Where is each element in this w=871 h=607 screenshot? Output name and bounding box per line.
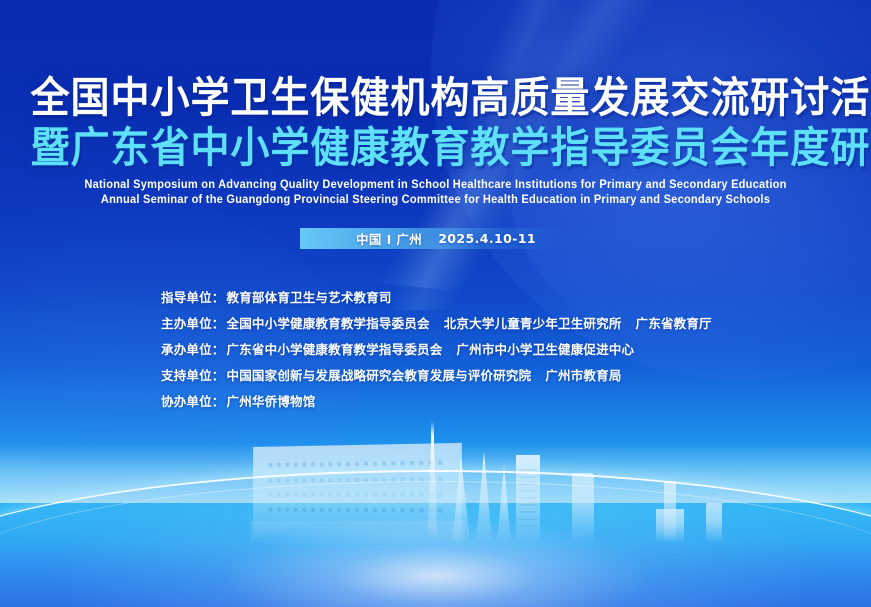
canton-tower-mast <box>431 421 434 443</box>
organization-name: 全国中小学健康教育教学指导委员会 <box>227 313 430 332</box>
school-building-base <box>250 521 465 543</box>
organization-name: 中国国家创新与发展战略研究会教育发展与评价研究院 <box>227 365 532 384</box>
organization-name: 广州华侨博物馆 <box>227 391 316 410</box>
organization-label: 指导单位： <box>161 287 225 306</box>
organization-label: 支持单位： <box>161 365 225 384</box>
subtitle-line-1: National Symposium on Advancing Quality … <box>17 178 853 193</box>
organization-row: 协办单位：广州华侨博物馆 <box>161 391 712 417</box>
skyline-spire-3 <box>497 465 511 543</box>
organization-row: 主办单位：全国中小学健康教育教学指导委员会北京大学儿童青少年卫生研究所广东省教育… <box>161 313 712 339</box>
canton-tower <box>426 435 439 539</box>
horizon-glow <box>0 470 871 607</box>
skyline-mist <box>0 443 871 503</box>
date-label: 2025.4.10-11 <box>438 231 536 246</box>
organization-values: 广州华侨博物馆 <box>227 391 316 410</box>
organization-values: 全国中小学健康教育教学指导委员会北京大学儿童青少年卫生研究所广东省教育厅 <box>227 313 712 332</box>
organization-list: 指导单位：教育部体育卫生与艺术教育司主办单位：全国中小学健康教育教学指导委员会北… <box>161 287 712 417</box>
organization-row: 支持单位：中国国家创新与发展战略研究会教育发展与评价研究院广州市教育局 <box>161 365 712 391</box>
skyline-tower-2 <box>664 481 676 543</box>
title-line-1: 全国中小学卫生保健机构高质量发展交流研讨活动 <box>30 74 840 122</box>
location-label: 中国 I 广州 <box>356 229 422 248</box>
organization-name: 广东省教育厅 <box>636 313 712 332</box>
title-line-2: 暨广东省中小学健康教育教学指导委员会年度研讨活动 <box>30 124 840 172</box>
organization-label: 协办单位： <box>161 391 225 410</box>
conference-poster: 全国中小学卫生保健机构高质量发展交流研讨活动 暨广东省中小学健康教育教学指导委员… <box>0 0 871 607</box>
horizon-arc <box>0 470 871 607</box>
poster-title: 全国中小学卫生保健机构高质量发展交流研讨活动 暨广东省中小学健康教育教学指导委员… <box>0 74 871 172</box>
skyline-tower-1 <box>572 473 594 543</box>
organization-name: 北京大学儿童青少年卫生研究所 <box>444 313 622 332</box>
organization-values: 教育部体育卫生与艺术教育司 <box>227 287 392 306</box>
skyline-tower-4 <box>706 503 722 543</box>
skyline-tower-3 <box>656 509 684 543</box>
organization-name: 广州市教育局 <box>545 365 621 384</box>
horizon-arc-secondary <box>0 481 871 607</box>
date-location-text: 中国 I 广州 2025.4.10-11 <box>330 228 562 249</box>
school-building <box>253 443 462 543</box>
skyline-spire-2 <box>476 451 492 543</box>
skyline-spire-1 <box>452 457 470 543</box>
organization-name: 教育部体育卫生与艺术教育司 <box>227 287 392 306</box>
organization-name: 广州市中小学卫生健康促进中心 <box>456 339 634 358</box>
organization-label: 承办单位： <box>161 339 225 358</box>
organization-row: 指导单位：教育部体育卫生与艺术教育司 <box>161 287 712 313</box>
subtitle-line-2: Annual Seminar of the Guangdong Provinci… <box>17 193 853 208</box>
organization-name: 广东省中小学健康教育教学指导委员会 <box>227 339 443 358</box>
organization-row: 承办单位：广东省中小学健康教育教学指导委员会广州市中小学卫生健康促进中心 <box>161 339 712 365</box>
poster-subtitle: National Symposium on Advancing Quality … <box>0 178 871 208</box>
organization-values: 广东省中小学健康教育教学指导委员会广州市中小学卫生健康促进中心 <box>227 339 635 358</box>
organization-label: 主办单位： <box>161 313 225 332</box>
organization-values: 中国国家创新与发展战略研究会教育发展与评价研究院广州市教育局 <box>227 365 622 384</box>
skyline-glass-tower <box>516 455 540 543</box>
